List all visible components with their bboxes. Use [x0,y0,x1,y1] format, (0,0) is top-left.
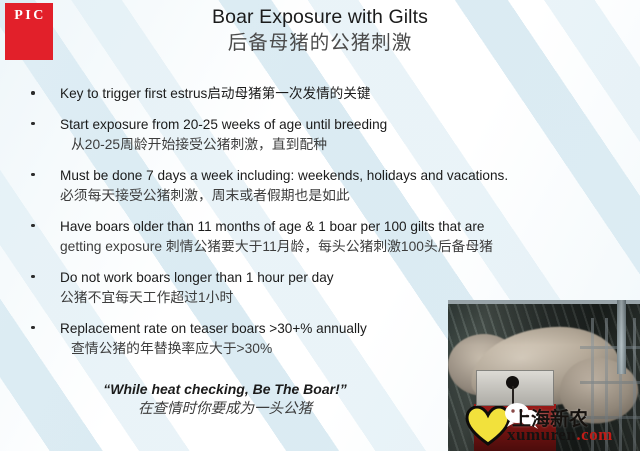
bullet-line-chinese: 必须每天接受公猪刺激，周末或者假期也是如此 [60,186,632,207]
slide-canvas: PIC Boar Exposure with Gilts 后备母猪的公猪刺激 K… [0,0,640,451]
bullet-line: Key to trigger first estrus启动母猪第一次发情的关键 [60,84,632,105]
slide-title-english: Boar Exposure with Gilts [0,5,640,30]
watermark-url-tld: .com [576,425,612,444]
bullet-item-2: Start exposure from 20-25 weeks of age u… [24,115,632,156]
quote-english: “While heat checking, Be The Boar!” [60,379,390,399]
bullet-line: Do not work boars longer than 1 hour per… [60,268,632,289]
bullet-line: Have boars older than 11 months of age &… [60,217,632,238]
bullet-dot-icon [31,224,35,228]
watermark-url: xumuren.com [507,425,613,445]
watermark-overlay: 上海新农 xumuren.com [452,398,640,451]
watermark-url-name: xumuren [507,425,576,444]
bullet-dot-icon [31,122,35,126]
quote-chinese: 在查情时你要成为一头公猪 [60,399,390,420]
pic-logo-text: PIC [12,3,46,24]
slide-title: Boar Exposure with Gilts 后备母猪的公猪刺激 [0,5,640,57]
bullet-dot-icon [31,173,35,177]
bullet-item-1: Key to trigger first estrus启动母猪第一次发情的关键 [24,84,632,105]
bullet-item-4: Have boars older than 11 months of age &… [24,217,632,258]
slide-title-chinese: 后备母猪的公猪刺激 [0,30,640,57]
closing-quote: “While heat checking, Be The Boar!” 在查情时… [60,379,390,420]
bullet-line-chinese: 从20-25周龄开始接受公猪刺激，直到配种 [60,135,632,156]
bullet-dot-icon [31,91,35,95]
bullet-item-3: Must be done 7 days a week including: we… [24,166,632,207]
bullet-line: Start exposure from 20-25 weeks of age u… [60,115,632,136]
bullet-dot-icon [31,275,35,279]
bullet-dot-icon [31,326,35,330]
bullet-line-chinese: getting exposure 刺情公猪要大于11月龄，每头公猪刺激100头后… [60,237,632,258]
bullet-line: Must be done 7 days a week including: we… [60,166,632,187]
pic-logo: PIC [5,3,53,60]
